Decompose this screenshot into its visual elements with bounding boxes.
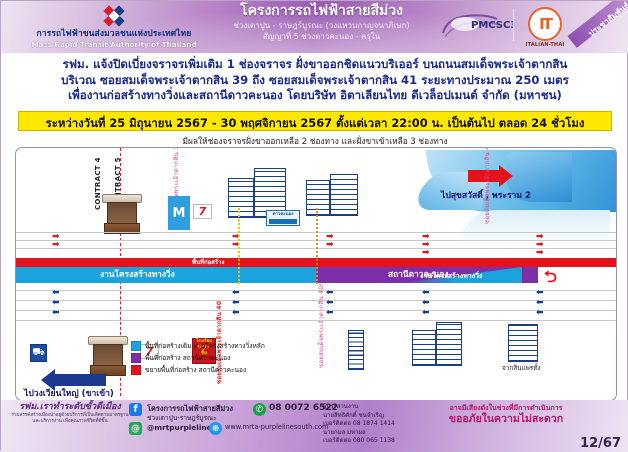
mrta-logo-block: การรถไฟฟ้าขนส่งมวลชนแห่งประเทศไทย Mass R… [19, 4, 209, 50]
inbound-arrow: ⬅ [422, 290, 430, 297]
notice-line-3: เพื่องานก่อสร้างทางวิ่งและสถานีดาวคะนอง … [9, 88, 621, 104]
apology-line-1: อาจมีเสียงดังในช่วงที่มีการดำเนินการ [431, 403, 581, 413]
coordinator-2-phone: เบอร์ติดต่อ 080 065 1138 [323, 437, 395, 446]
instagram-glyph: @ [131, 424, 140, 434]
direction-arrow-in-icon [54, 374, 106, 386]
inbound-arrow: ⬅ [326, 310, 334, 317]
building-icon-7 [508, 324, 538, 362]
italian-thai-logo: IT ITALIAN-THAI [519, 7, 571, 49]
project-subtitle-2: สัญญาที่ 5 ช่วงดาวคะนอง - ครุใน [209, 31, 434, 42]
legend-row: พื้นที่ก่อสร้างเดิม งานโครงสร้างทางวิ่งห… [131, 340, 265, 351]
agency-slogan-block: รฟม.เราทำระดับขั้วดีเมือง ร่วมสรรค์สร้าง… [11, 402, 129, 426]
legend-label-runway: พื้นที่ก่อสร้างเดิม งานโครงสร้างทางวิ่งห… [145, 340, 265, 351]
building-icon-1 [228, 178, 254, 218]
header-banner: การรถไฟฟ้าขนส่งมวลชนแห่งประเทศไทย Mass R… [1, 1, 628, 53]
itd-circle-icon: IT [528, 7, 562, 41]
bus-stop-sign-bar [269, 219, 297, 224]
lane-line-4 [16, 290, 616, 291]
itd-monogram: IT [539, 15, 551, 33]
guard-kiosk-icon [104, 194, 140, 234]
coordinator-1-phone: เบอร์ติดต่อ 08 1874 1414 [323, 420, 395, 429]
direction-in-label: ไปวงเวียนใหญ่ (ขาเข้า) [24, 386, 114, 400]
guard-kiosk-icon-2 [90, 336, 126, 376]
notice-text-block: รฟม. แจ้งปิดเบี่ยงจราจรเพิ่มเติม 1 ช่องจ… [9, 57, 621, 104]
coordinator-1-name: นายสิทธิศักดิ์ ชนจำเริญ [323, 412, 395, 421]
outbound-arrow: ➡ [422, 250, 430, 257]
facebook-glyph: f [133, 404, 137, 415]
lane-line-7 [16, 320, 616, 321]
outbound-arrow: ➡ [52, 242, 60, 249]
website-url[interactable]: www.mrta-purplelinesouth.com [225, 423, 328, 431]
inbound-arrow: ⬅ [232, 310, 240, 317]
blue-sign-icon: ⛟ [30, 344, 47, 362]
mrta-emblem-icon [93, 4, 135, 28]
building-icon-6 [436, 322, 462, 366]
inbound-arrow: ⬅ [422, 300, 430, 307]
inbound-arrow: ⬅ [52, 310, 60, 317]
mrt-sign-letter: M [173, 206, 186, 221]
inbound-arrow: ⬅ [52, 300, 60, 307]
instagram-handle[interactable]: @mrtpurpleline [147, 423, 212, 432]
inbound-arrow: ⬅ [326, 290, 334, 297]
lane-impact-note: มีผลให้ช่องจราจรฝั่งขาออกเหลือ 2 ช่องทาง… [1, 134, 628, 148]
band-runway-label-right: งานโครงสร้างทางวิ่ง [420, 270, 482, 283]
facebook-icon[interactable]: f [129, 403, 142, 416]
building-group-label: จากสินแพรทั้ง [502, 363, 541, 373]
outbound-arrow: ➡ [536, 250, 544, 257]
soi40-label: ซอยสมเด็จพระเจ้าตากสิน 40/1 [316, 279, 326, 368]
tower-icon-1 [348, 330, 364, 370]
soi41-label: ซอยสมเด็จพระเจ้าตากสิน 41 [482, 147, 492, 224]
legend-row: ขยายพื้นที่ก่อสร้าง สถานีดาวคะนอง [131, 364, 265, 375]
coordinator-title: ผู้ประสานงาน [323, 403, 395, 412]
inbound-arrow: ⬅ [326, 300, 334, 307]
project-subtitle-1: ช่วงเตาปูน - ราษฎร์บูรณะ (วงแหวนกาญจนาภิ… [209, 20, 434, 31]
date-range-text: ระหว่างวันที่ 25 มิถุนายน 2567 - 30 พฤศจ… [46, 116, 585, 130]
kiosk-body [93, 344, 123, 366]
page-number: 12/67 [580, 436, 621, 451]
inbound-arrow: ⬅ [232, 300, 240, 307]
contract4-label: CONTRACT 4 [94, 157, 102, 210]
lane-line-6 [16, 310, 616, 311]
legend-swatch-station [131, 353, 141, 363]
mrt-station-sign: M [168, 196, 190, 230]
project-title-block: โครงการรถไฟฟ้าสายสีม่วง ช่วงเตาปูน - ราษ… [209, 3, 434, 42]
inbound-arrow: ⬅ [232, 290, 240, 297]
inbound-arrow: ⬅ [536, 290, 544, 297]
apology-block: อาจมีเสียงดังในช่วงที่มีการดำเนินการ ขออ… [431, 403, 581, 426]
legend-label-station: พื้นที่ก่อสร้าง สถานีดาวคะนอง [145, 352, 230, 363]
agency-slogan: รฟม.เราทำระดับขั้วดีเมือง [11, 402, 129, 413]
blue-sign-glyph: ⛟ [32, 347, 45, 360]
bus-stop-sign: ดาวคะนอง [266, 210, 300, 226]
map-legend: พื้นที่ก่อสร้างเดิม งานโครงสร้างทางวิ่งห… [131, 340, 265, 376]
band-runway-label: งานโครงสร้างทางวิ่ง [100, 268, 175, 281]
project-title: โครงการรถไฟฟ้าสายสีม่วง [209, 3, 434, 20]
u-turn-icon: ⮌ [544, 266, 557, 293]
legend-swatch-extension [131, 365, 141, 375]
kiosk-body [107, 202, 137, 224]
coordinator-contact-block: ผู้ประสานงาน นายสิทธิศักดิ์ ชนจำเริญ เบอ… [323, 403, 395, 446]
globe-icon[interactable]: ⊕ [209, 422, 222, 435]
inbound-arrow: ⬅ [536, 300, 544, 307]
seven-eleven-icon: 7 [193, 204, 212, 219]
legend-swatch-runway [131, 341, 141, 351]
inbound-arrow: ⬅ [422, 310, 430, 317]
bus-stop-sign-th: ดาวคะนอง [267, 211, 299, 218]
inbound-arrow: ⬅ [536, 310, 544, 317]
date-range-banner: ระหว่างวันที่ 25 มิถุนายน 2567 - 30 พฤศจ… [18, 111, 612, 131]
work-zone-marker-yellow [238, 208, 240, 284]
construction-map: ไปสุขสวัสดิ์ , พระราม 2 CONTRACT 4 CONTR… [15, 147, 617, 401]
band-runway-blue: งานโครงสร้างทางวิ่ง [16, 267, 316, 283]
outbound-arrow: ➡ [326, 242, 334, 249]
notice-line-1: รฟม. แจ้งปิดเบี่ยงจราจรเพิ่มเติม 1 ช่องจ… [9, 57, 621, 73]
notice-poster: การรถไฟฟ้าขนส่งมวลชนแห่งประเทศไทย Mass R… [0, 0, 628, 451]
seven-eleven-numeral: 7 [199, 206, 207, 217]
apology-line-2: ขออภัยในความไม่สะดวก [431, 413, 581, 426]
agency-slogan-sub2: และบริการงาน เพื่อคุณภาพชีวิตที่ดีขึ้น [11, 419, 129, 425]
facebook-page-sub: ช่วงเตาปูน-ราษฎร์บูรณะ [147, 412, 217, 423]
building-icon-5 [412, 330, 436, 366]
svg-text:PMCSC3: PMCSC3 [471, 20, 513, 31]
work-zone-marker-orange [316, 208, 318, 284]
notice-line-2: บริเวณ ซอยสมเด็จพระเจ้าตากสิน 39 ถึง ซอย… [9, 73, 621, 89]
building-icon-4 [330, 174, 358, 216]
lane-line-5 [16, 300, 616, 301]
phone-icon[interactable]: ✆ [253, 403, 266, 416]
agency-name-th: การรถไฟฟ้าขนส่งมวลชนแห่งประเทศไทย [19, 29, 209, 40]
building-icon-3 [306, 180, 330, 216]
itd-caption: ITALIAN-THAI [519, 42, 571, 48]
inbound-arrow: ⬅ [52, 290, 60, 297]
pmcsc3-logo: PMCSC3 [441, 9, 513, 43]
instagram-icon[interactable]: @ [129, 422, 142, 435]
agency-name-en: Mass Rapid Transit Authority of Thailand [19, 40, 209, 50]
legend-label-extension: ขยายพื้นที่ก่อสร้าง สถานีดาวคะนอง [145, 364, 246, 375]
legend-row: พื้นที่ก่อสร้าง สถานีดาวคะนอง [131, 352, 265, 363]
header-divider [513, 9, 514, 41]
